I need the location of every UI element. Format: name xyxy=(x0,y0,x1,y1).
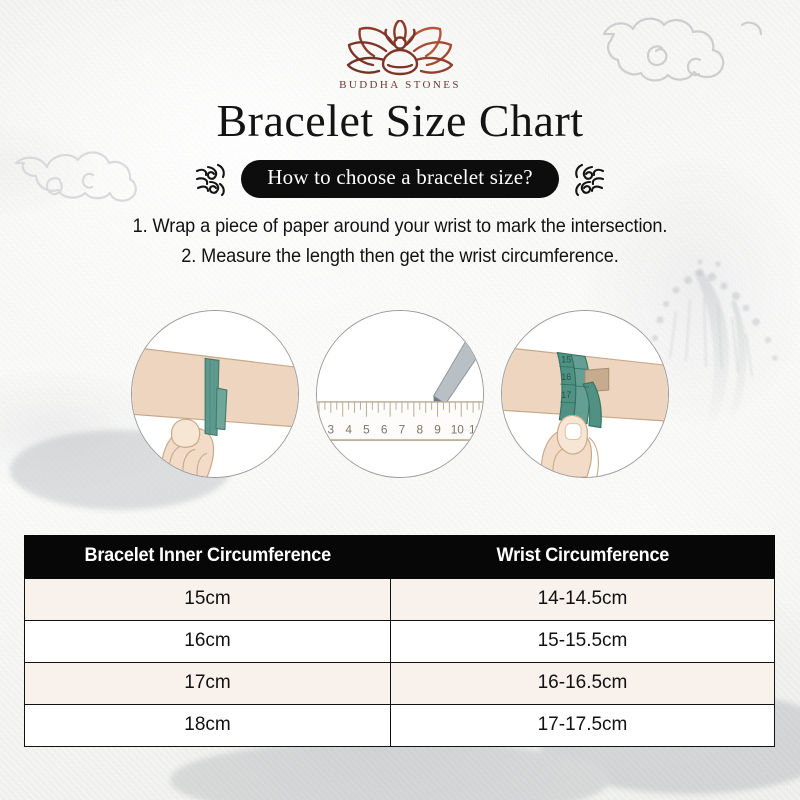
tape-measure-illustration: 15 16 17 xyxy=(501,310,669,478)
swirl-ornament-icon xyxy=(568,159,608,199)
ruler-number: 8 xyxy=(416,423,423,437)
brand-logo: BUDDHA STONES xyxy=(0,0,800,91)
page-title: Bracelet Size Chart xyxy=(0,97,800,146)
ruler-number: 7 xyxy=(399,423,406,437)
swirl-ornament-icon xyxy=(192,159,232,199)
tape-number: 17 xyxy=(561,390,571,400)
instruction-step-1: 1. Wrap a piece of paper around your wri… xyxy=(28,212,772,242)
table-row: 16cm 15-15.5cm xyxy=(25,621,775,663)
table-header-bracelet: Bracelet Inner Circumference xyxy=(25,536,391,579)
table-row: 17cm 16-16.5cm xyxy=(25,663,775,705)
wrap-paper-illustration xyxy=(131,310,299,478)
size-chart-table: Bracelet Inner Circumference Wrist Circu… xyxy=(24,535,775,747)
cell-wrist-circumference: 14-14.5cm xyxy=(391,579,775,621)
ruler-number: 4 xyxy=(345,423,352,437)
illustration-row: 3 4 5 6 7 8 9 10 11 12 xyxy=(0,310,800,490)
how-to-badge-row: How to choose a bracelet size? xyxy=(0,159,800,199)
instruction-step-2: 2. Measure the length then get the wrist… xyxy=(28,242,772,272)
cell-bracelet-circumference: 15cm xyxy=(25,579,391,621)
table-header-wrist: Wrist Circumference xyxy=(391,536,775,579)
cell-wrist-circumference: 17-17.5cm xyxy=(391,705,775,747)
ruler-number: 5 xyxy=(363,423,370,437)
table-row: 15cm 14-14.5cm xyxy=(25,579,775,621)
cell-wrist-circumference: 16-16.5cm xyxy=(391,663,775,705)
tape-number: 16 xyxy=(561,372,571,382)
ruler-number: 6 xyxy=(381,423,388,437)
lotus-meditation-icon xyxy=(334,20,466,76)
ruler-number: 10 xyxy=(451,423,465,437)
cell-bracelet-circumference: 16cm xyxy=(25,621,391,663)
ruler-measure-illustration: 3 4 5 6 7 8 9 10 11 12 xyxy=(316,310,484,478)
page-header: BUDDHA STONES Bracelet Size Chart How to… xyxy=(0,0,800,199)
cell-bracelet-circumference: 17cm xyxy=(25,663,391,705)
tape-number: 15 xyxy=(561,354,571,364)
cell-bracelet-circumference: 18cm xyxy=(25,705,391,747)
brand-name: BUDDHA STONES xyxy=(339,79,461,91)
instruction-steps: 1. Wrap a piece of paper around your wri… xyxy=(0,212,800,271)
ruler-number: 3 xyxy=(328,423,335,437)
table-row: 18cm 17-17.5cm xyxy=(25,705,775,747)
how-to-badge: How to choose a bracelet size? xyxy=(241,160,558,198)
cell-wrist-circumference: 15-15.5cm xyxy=(391,621,775,663)
ruler-number: 11 xyxy=(469,423,482,437)
ruler-number: 9 xyxy=(434,423,441,437)
table-header-row: Bracelet Inner Circumference Wrist Circu… xyxy=(25,536,775,579)
